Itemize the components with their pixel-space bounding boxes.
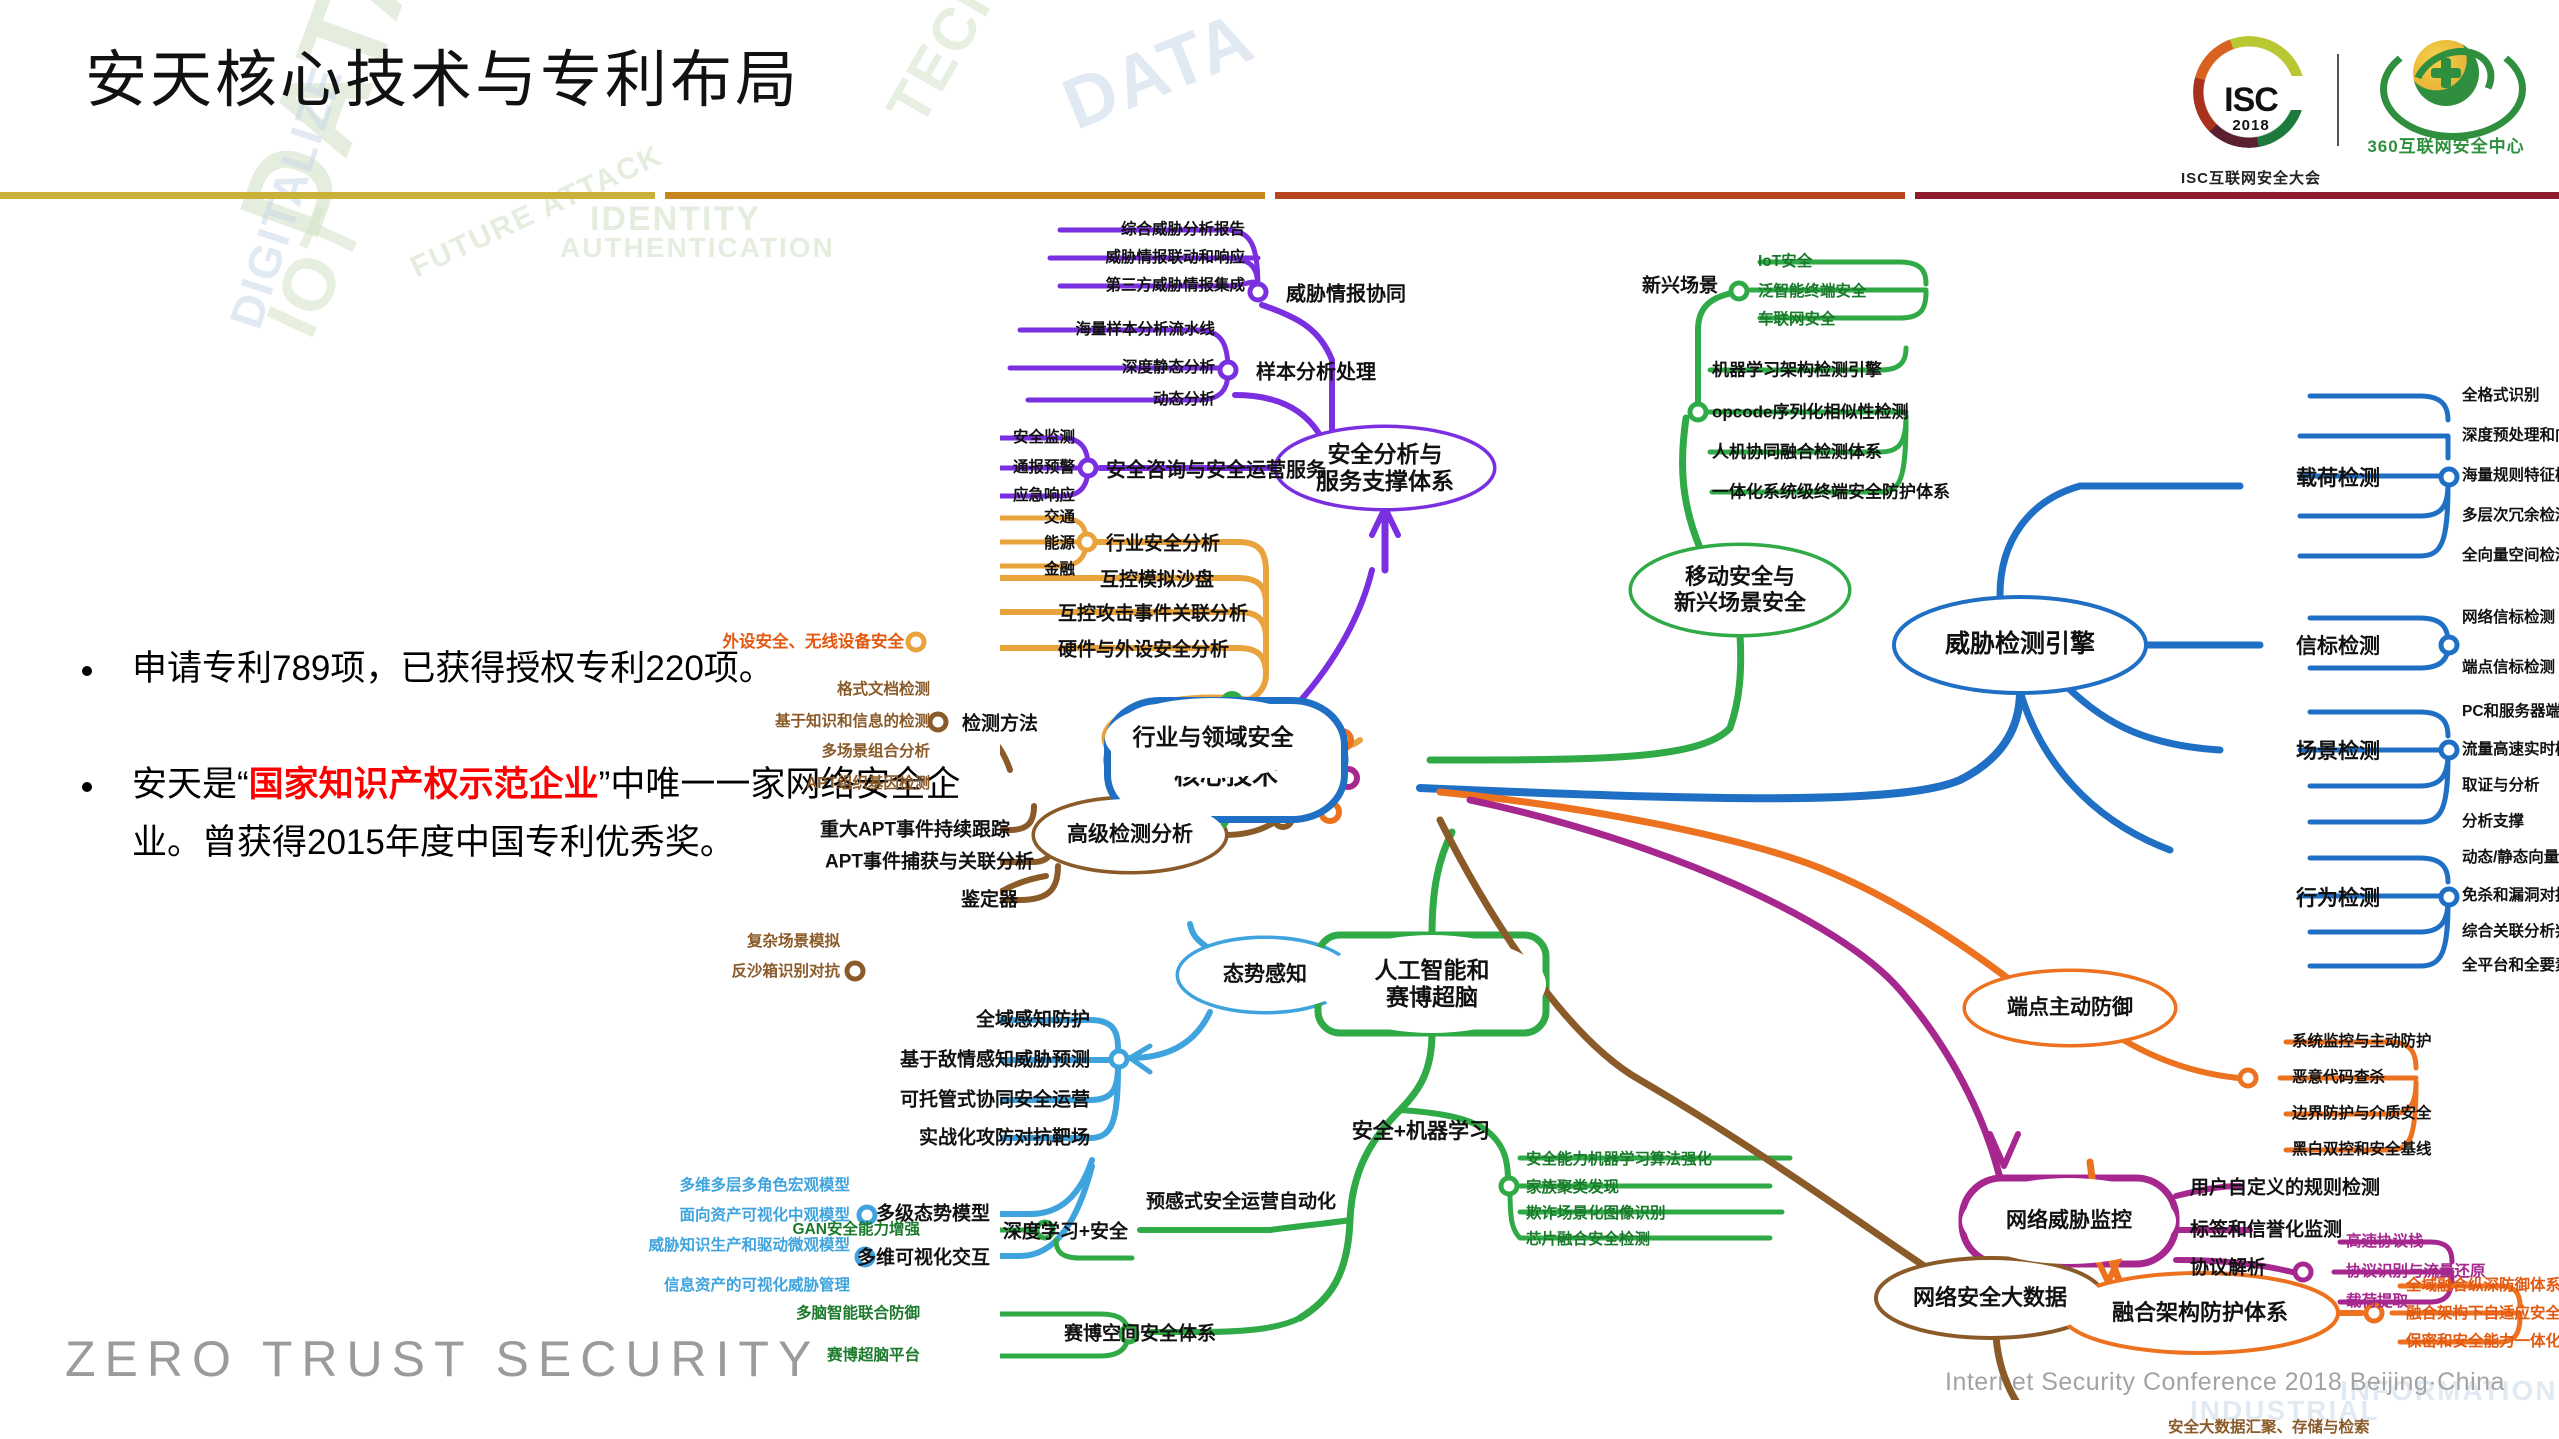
hub-situation [1109, 1049, 1130, 1070]
group-label-apt-tracking[interactable]: 重大APT事件持续跟踪 [820, 815, 1010, 842]
leaf-full-vector-space[interactable]: 全向量空间检测 [2462, 543, 2559, 565]
rule-segment-1 [0, 192, 655, 199]
hub-protocol-parse [2293, 1262, 2314, 1283]
leaf-system-monitor-protection[interactable]: 系统监控与主动防护 [2292, 1029, 2432, 1051]
group-label-sec-consulting[interactable]: 安全咨询与安全运营服务 [1106, 454, 1326, 483]
leaf-third-party-intel[interactable]: 第三方威胁情报集成 [1105, 273, 1245, 295]
branch-node-big-data[interactable]: 网络安全大数据 [1878, 1260, 2102, 1336]
rule-segment-2 [665, 192, 1265, 199]
group-label-enemy-threat-prediction[interactable]: 基于敌情感知威胁预测 [900, 1045, 1090, 1072]
leaf-malware-killing[interactable]: 恶意代码查杀 [2292, 1065, 2385, 1087]
watermark-iot: IOT [249, 196, 381, 349]
hub-behavior-detect [2439, 887, 2460, 908]
hub-ml-security [1499, 1176, 1520, 1197]
leaf-threat-intel-linkage[interactable]: 威胁情报联动和响应 [1105, 245, 1245, 267]
group-label-sample-analysis[interactable]: 样本分析处理 [1256, 356, 1376, 385]
bullet-2-pre: 安天是“ [132, 765, 249, 804]
branch-node-advanced-detection[interactable]: 高级检测分析 [1035, 799, 1225, 871]
leaf-asset-visual-threat-mgmt[interactable]: 信息资产的可视化威胁管理 [664, 1273, 850, 1295]
leaf-security-monitoring[interactable]: 安全监测 [1013, 425, 1075, 447]
hub-emerging-scene [1729, 281, 1750, 302]
leaf-complex-scene-sim[interactable]: 复杂场景模拟 [747, 929, 840, 951]
leaf-finance[interactable]: 金融 [1044, 557, 1075, 579]
hub-scene-detect [2439, 740, 2460, 761]
leaf-family-clustering[interactable]: 家族聚类发现 [1526, 1175, 1619, 1197]
hub-payload-detect [2439, 467, 2460, 488]
group-label-beacon-detection[interactable]: 信标检测 [2296, 630, 2380, 660]
leaf-dynamic-analysis[interactable]: 动态分析 [1153, 387, 1215, 409]
leaf-iov-security[interactable]: 车联网安全 [1758, 307, 1836, 329]
group-label-mutual-attack-correlation[interactable]: 互控攻击事件关联分析 [1058, 599, 1248, 626]
group-label-emerging-scene[interactable]: 新兴场景 [1642, 271, 1718, 298]
leaf-gan-security-enhance[interactable]: GAN安全能力增强 [793, 1217, 920, 1239]
leaf-integrated-endpoint-protection[interactable]: 一体化系统级终端安全防护体系 [1712, 478, 1950, 503]
group-label-hardware-peripheral[interactable]: 硬件与外设安全分析 [1058, 635, 1229, 662]
leaf-smart-terminal-security[interactable]: 泛智能终端安全 [1758, 279, 1867, 301]
mindmap: 安天核心技术 安全分析与服务支撑体系 行业与领域安全 高级检测分析 态势感知 人… [1000, 200, 2559, 1400]
cross-icon [2431, 58, 2461, 88]
bullet-dot-icon [82, 666, 92, 676]
hub-peripheral-sec [906, 632, 927, 653]
group-label-mutual-sandbox[interactable]: 互控模拟沙盘 [1100, 565, 1214, 592]
page-title: 安天核心技术与专利布局 [85, 50, 800, 112]
leaf-full-platform-simulation[interactable]: 全平台和全要素仿真适配 [2462, 953, 2559, 975]
leaf-iot-security[interactable]: IoT安全 [1758, 249, 1812, 271]
branch-node-ai-cyber-brain[interactable]: 人工智能和赛博超脑 [1318, 935, 1546, 1033]
branch-node-converged-architecture[interactable]: 融合架构防护体系 [2064, 1275, 2336, 1351]
group-label-threat-intel[interactable]: 威胁情报协同 [1286, 278, 1406, 307]
leaf-forensics-analysis[interactable]: 取证与分析 [2462, 773, 2540, 795]
leaf-energy[interactable]: 能源 [1044, 531, 1075, 553]
group-label-behavior-detection[interactable]: 行为检测 [2296, 882, 2380, 912]
group-label-user-rule-detection[interactable]: 用户自定义的规则检测 [2190, 1173, 2380, 1200]
leaf-multi-scene-combo[interactable]: 多场景组合分析 [821, 739, 930, 761]
group-label-cyber-range[interactable]: 实战化攻防对抗靶场 [919, 1123, 1090, 1150]
leaf-full-domain-deep-defense[interactable]: 全域融合纵深防御体系 [2406, 1273, 2559, 1295]
branch-node-endpoint-defense[interactable]: 端点主动防御 [1966, 972, 2174, 1044]
leaf-ml-arch-engine[interactable]: 机器学习架构检测引擎 [1712, 356, 1882, 381]
hub-identifier [845, 961, 866, 982]
leaf-mass-rule-feature[interactable]: 海量规则特征检测 [2462, 463, 2559, 485]
leaf-evasion-vuln-hardening[interactable]: 免杀和漏洞对抗强化 [2462, 883, 2559, 905]
leaf-payload-extraction[interactable]: 载荷提取 [2346, 1289, 2408, 1311]
leaf-format-doc-detection[interactable]: 格式文档检测 [837, 677, 930, 699]
bullet-2-highlight: 国家知识产权示范企业 [249, 765, 599, 804]
logo-360: 360互联网安全中心 [2361, 36, 2531, 164]
hub-beacon-detect [2439, 635, 2460, 656]
group-label-identifier[interactable]: 鉴定器 [961, 885, 1018, 912]
leaf-endpoint-beacon[interactable]: 端点信标检测 [2462, 655, 2555, 677]
isc-logo-caption: ISC互联网安全大会 [2181, 167, 2321, 188]
leaf-deep-static-analysis[interactable]: 深度静态分析 [1122, 355, 1215, 377]
leaf-deep-preprocess-vector[interactable]: 深度预处理和向量提取 [2462, 423, 2559, 445]
header-logos: ISC 2018 ISC互联网安全大会 360互联网安全中心 [2187, 30, 2531, 170]
leaf-network-beacon[interactable]: 网络信标检测 [2462, 605, 2555, 627]
slide: DATA IOT DIGITALIZE FUTURE ATTACK IDENTI… [0, 0, 2559, 1439]
leaf-analysis-support[interactable]: 分析支撑 [2462, 809, 2524, 831]
leaf-adaptive-security-delivery[interactable]: 融合架构下自适应安全交付 [2406, 1301, 2559, 1323]
slide-header: 安天核心技术与专利布局 ISC 2018 ISC互联网安全大会 360互联网安全… [0, 0, 2559, 196]
hub-mobile-detect [1688, 402, 1709, 423]
leaf-peripheral-wireless-security[interactable]: 外设安全、无线设备安全 [723, 628, 905, 652]
hub-endpoint-defense [2238, 1068, 2259, 1089]
hub-detect-method [928, 712, 949, 733]
isc-logo: ISC 2018 ISC互联网安全大会 [2187, 36, 2315, 164]
zero-trust-footer: ZERO TRUST SECURITY [65, 1330, 820, 1388]
leaf-cyber-brain-platform[interactable]: 赛博超脑平台 [827, 1343, 920, 1365]
group-label-industry-analysis[interactable]: 行业安全分析 [1106, 529, 1220, 556]
leaf-emergency-response[interactable]: 应急响应 [1013, 483, 1075, 505]
hub-threat-intel [1248, 282, 1269, 303]
globe-icon [2413, 40, 2479, 106]
leaf-transport[interactable]: 交通 [1044, 505, 1075, 527]
leaf-high-speed-traffic[interactable]: 流量高速实时检测 [2462, 737, 2559, 759]
leaf-dynamic-static-vector[interactable]: 动态/静态向量提取 [2462, 845, 2559, 867]
group-label-scene-detection[interactable]: 场景检测 [2296, 735, 2380, 765]
hub-sec-consult [1078, 458, 1099, 479]
bullet-1-text: 申请专利789项，已获得授权专利220项。 [132, 649, 774, 688]
leaf-multibrain-joint-defense[interactable]: 多脑智能联合防御 [796, 1301, 920, 1323]
branch-node-network-threat-monitor[interactable]: 网络威胁监控 [1962, 1178, 2176, 1264]
leaf-black-white-baseline[interactable]: 黑白双控和安全基线 [2292, 1137, 2432, 1159]
leaf-all-format-recognition[interactable]: 全格式识别 [2462, 383, 2540, 405]
watermark-identity: IDENTITY [590, 200, 761, 239]
hub-industry-analysis [1077, 532, 1098, 553]
rule-segment-3 [1275, 192, 1905, 199]
branch-node-mobile-emerging[interactable]: 移动安全与新兴场景安全 [1632, 546, 1848, 634]
leaf-bigdata-aggregation[interactable]: 安全大数据汇聚、存储与检索 [2168, 1415, 2370, 1437]
group-label-payload-detection[interactable]: 载荷检测 [2296, 462, 2380, 492]
logo-divider [2337, 54, 2339, 146]
leaf-confidential-security-integration[interactable]: 保密和安全能力一体化 [2406, 1329, 2559, 1351]
leaf-anti-sandbox[interactable]: 反沙箱识别对抗 [731, 959, 840, 981]
leaf-correlation-judgement[interactable]: 综合关联分析判定 [2462, 919, 2559, 941]
bullet-dot-icon [82, 782, 92, 792]
group-label-managed-security-ops[interactable]: 可托管式协同安全运营 [900, 1085, 1090, 1112]
bullet-text-1: 申请专利789项，已获得授权专利220项。 [132, 640, 774, 698]
group-label-tag-reputation-monitor[interactable]: 标签和信誉化监测 [2190, 1215, 2342, 1242]
isc-logo-year: 2018 [2232, 117, 2269, 134]
group-label-detection-method[interactable]: 检测方法 [962, 709, 1038, 736]
leaf-macro-model[interactable]: 多维多层多角色宏观模型 [679, 1173, 850, 1195]
group-label-protocol-parsing[interactable]: 协议解析 [2190, 1253, 2266, 1280]
leaf-boundary-media-security[interactable]: 边界防护与介质安全 [2292, 1101, 2432, 1123]
leaf-alert-warning[interactable]: 通报预警 [1013, 455, 1075, 477]
branch-node-industry-domain[interactable]: 行业与领域安全 [1105, 698, 1321, 778]
rule-segment-4 [1915, 192, 2559, 199]
logo-360-mark-icon [2380, 36, 2512, 130]
group-label-deep-learning-security[interactable]: 深度学习+安全 [1003, 1217, 1128, 1244]
leaf-multilayer-redundant[interactable]: 多层次冗余检测 [2462, 503, 2559, 525]
leaf-comprehensive-threat-report[interactable]: 综合威胁分析报告 [1121, 217, 1245, 239]
branch-node-threat-detection-engine[interactable]: 威胁检测引擎 [1896, 599, 2144, 691]
group-label-cyberspace-security-system[interactable]: 赛博空间安全体系 [1064, 1319, 1216, 1346]
hub-sample-analysis [1218, 360, 1239, 381]
leaf-mass-sample-pipeline[interactable]: 海量样本分析流水线 [1075, 317, 1215, 339]
leaf-high-speed-protocol-stack[interactable]: 高速协议栈 [2346, 1229, 2424, 1251]
watermark-authentication: AUTHENTICATION [560, 232, 835, 264]
leaf-fraud-image-recognition[interactable]: 欺诈场景化图像识别 [1526, 1201, 1666, 1223]
leaf-human-machine-detection[interactable]: 人机协同融合检测体系 [1712, 438, 1882, 463]
leaf-opcode-similarity[interactable]: opcode序列化相似性检测 [1712, 398, 1908, 423]
leaf-apt-gene-detection[interactable]: APT组织基因检测 [806, 771, 930, 793]
group-label-full-domain-protection[interactable]: 全域感知防护 [976, 1005, 1090, 1032]
leaf-ml-algo-enhance[interactable]: 安全能力机器学习算法强化 [1526, 1147, 1712, 1169]
isc-logo-mark: ISC [2224, 84, 2278, 116]
group-label-apt-capture[interactable]: APT事件捕获与关联分析 [825, 847, 1034, 874]
leaf-chip-fusion-detection[interactable]: 芯片融合安全检测 [1526, 1227, 1650, 1249]
group-label-security-ml[interactable]: 安全+机器学习 [1352, 1115, 1490, 1145]
group-label-multidim-visual-interaction[interactable]: 多维可视化交互 [857, 1243, 990, 1270]
leaf-knowledge-info-detection[interactable]: 基于知识和信息的检测 [775, 709, 930, 731]
leaf-pc-server-endpoint[interactable]: PC和服务器端点 [2462, 699, 2559, 721]
group-label-predictive-secops[interactable]: 预感式安全运营自动化 [1146, 1187, 1336, 1214]
